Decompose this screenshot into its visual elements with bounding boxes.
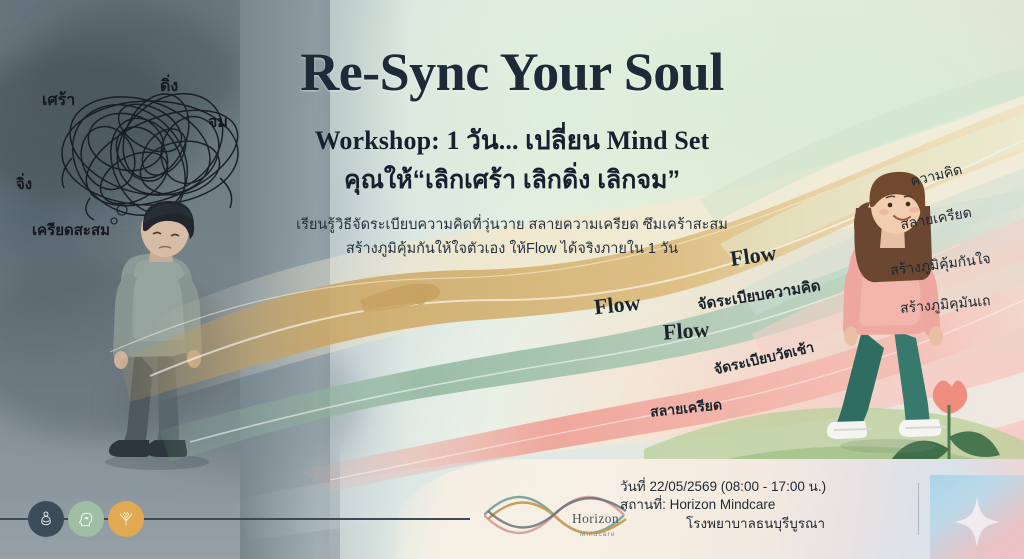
- poster-root: Re-Sync Your Soul Workshop: 1 วัน... เปล…: [0, 0, 1024, 559]
- description-line-1: เรียนรู้วิธีจัดระเบียบความคิดที่วุ่นวาย …: [0, 214, 1024, 238]
- event-place-line2: โรงพยาบาลธนบุรีบูรณา: [686, 512, 825, 534]
- brain-tree-icon[interactable]: [108, 501, 144, 537]
- description-line-2: สร้างภูมิคุ้มกันให้ใจตัวเอง ให้Flow ได้จ…: [0, 238, 1024, 262]
- sparkle-panel: [930, 475, 1024, 559]
- workshop-subtitle: Workshop: 1 วัน... เปลี่ยน Mind Set: [0, 120, 1024, 161]
- ribbon-word-2: Flow: [593, 290, 642, 321]
- negative-word-2: จม: [208, 110, 228, 135]
- workshop-tagline: คุณให้“เลิกเศร้า เลิกดิ่ง เลิกจม”: [0, 160, 1024, 200]
- footer-divider: [918, 483, 919, 535]
- sparkle-icon: [930, 475, 1024, 559]
- negative-word-0: เศร้า: [42, 88, 75, 113]
- negative-word-3: จิ่ง: [16, 172, 32, 196]
- ribbon-word-3: Flow: [662, 316, 710, 345]
- logo-brand-sub: Mindcare: [580, 531, 616, 538]
- head-profile-icon[interactable]: [68, 501, 104, 537]
- logo-brand-name: Horizon: [572, 511, 619, 527]
- page-title: Re-Sync Your Soul: [0, 44, 1024, 100]
- negative-word-1: ดิ่ง: [160, 74, 178, 99]
- meditation-person-icon[interactable]: [28, 501, 64, 537]
- description-text: เรียนรู้วิธีจัดระเบียบความคิดที่วุ่นวาย …: [0, 214, 1024, 262]
- negative-word-4: เครียดสะสม: [32, 218, 110, 242]
